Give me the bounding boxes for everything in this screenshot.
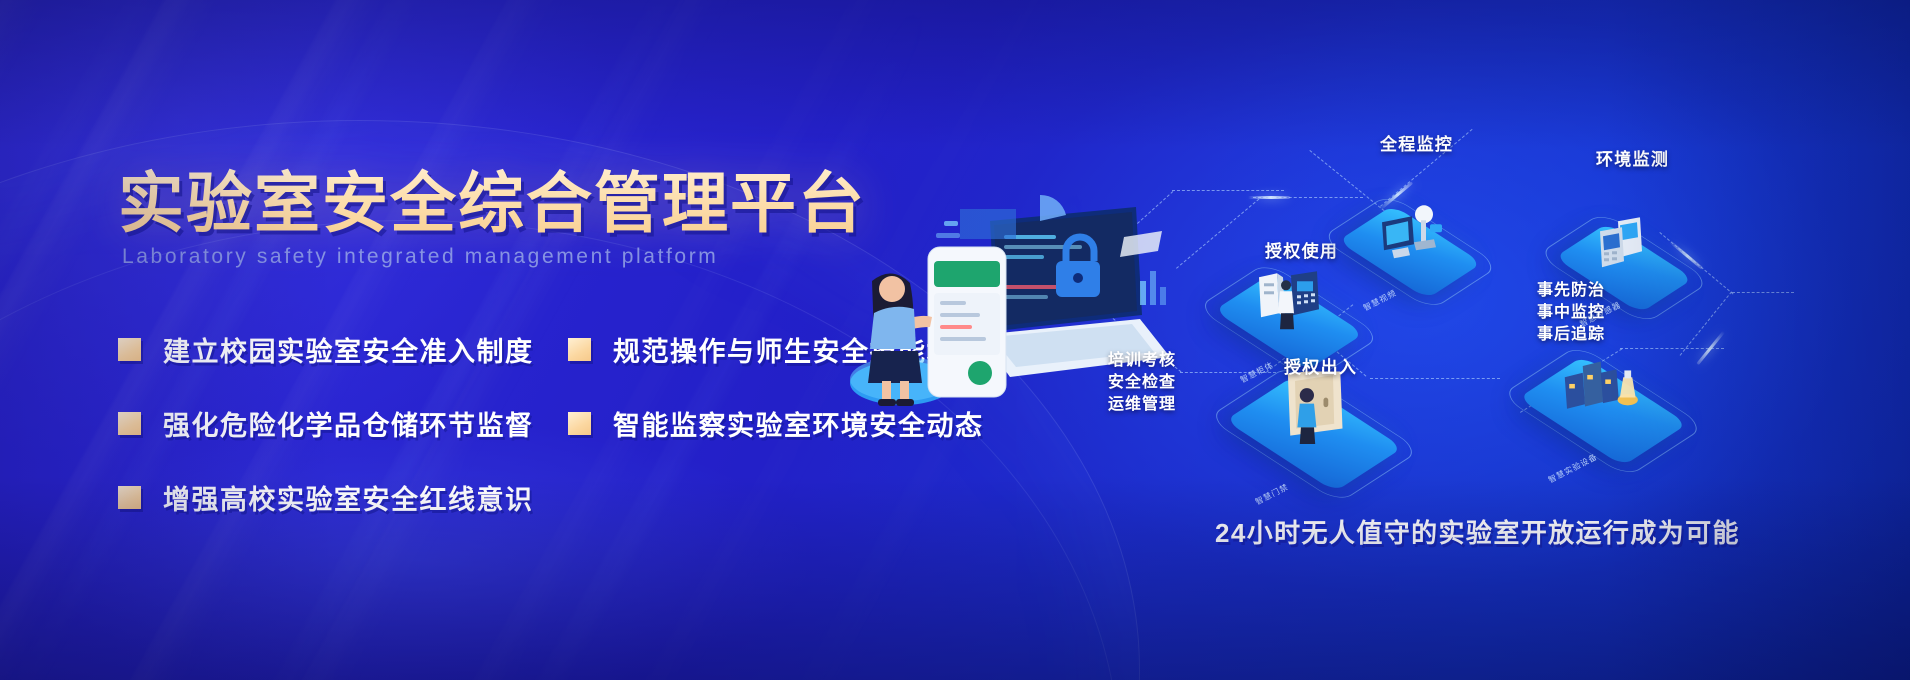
feature-label: 建立校园实验室安全准入制度 <box>163 330 534 369</box>
banner-root: 实验室安全综合管理平台 Laboratory safety integrated… <box>0 0 1910 680</box>
node-label-authorized-access: 授权出入 <box>1284 356 1357 379</box>
connector-line <box>1253 197 1363 198</box>
square-bullet-icon <box>118 412 141 435</box>
diagram-tagline: 24小时无人值守的实验室开放运行成为可能 <box>1215 513 1740 550</box>
node-label-line: 事中监控 <box>1537 302 1605 324</box>
connector-line <box>1680 291 1732 355</box>
node-label-line: 事先防治 <box>1537 280 1605 302</box>
node-label-line: 运维管理 <box>1108 394 1176 416</box>
node-label-training: 培训考核 安全检查 运维管理 <box>1108 350 1176 416</box>
smart-cabinet-icon <box>1247 270 1331 334</box>
node-label-prevention-tracking: 事先防治 事中监控 事后追踪 <box>1537 280 1605 346</box>
connector-line <box>1620 348 1724 349</box>
feature-label: 强化危险化学品仓储环节监督 <box>163 404 534 443</box>
connector-spark <box>1696 331 1725 366</box>
page-title: 实验室安全综合管理平台 <box>118 150 866 246</box>
smart-door-icon <box>1264 372 1364 448</box>
camera-monitor-icon <box>1368 200 1452 264</box>
connector-line <box>1176 199 1259 269</box>
connector-line <box>1732 292 1794 293</box>
feature-item-2: 强化危险化学品仓储环节监督 <box>118 404 534 443</box>
feature-item-1: 建立校园实验室安全准入制度 <box>118 330 534 369</box>
feature-label: 增强高校实验室安全红线意识 <box>163 478 534 517</box>
connector-spark <box>1248 196 1290 199</box>
page-subtitle: Laboratory safety integrated management … <box>122 245 718 269</box>
sensor-device-icon <box>1582 217 1666 281</box>
connector-line <box>1172 190 1284 191</box>
tile-caption: 智慧实验设备 <box>1546 451 1599 485</box>
connector-line <box>1370 378 1500 379</box>
node-label-full-monitoring: 全程监控 <box>1380 133 1453 156</box>
node-label-environment-monitoring: 环境监测 <box>1596 148 1669 171</box>
node-label-line: 安全检查 <box>1108 372 1176 394</box>
node-tile-authorized-access[interactable]: 智慧门禁 <box>1250 370 1378 498</box>
left-content-pane: 实验室安全综合管理平台 Laboratory safety integrated… <box>0 0 980 680</box>
architecture-diagram: 培训考核 安全检查 运维管理 <box>980 0 1910 680</box>
square-bullet-icon <box>568 338 591 361</box>
tile-caption: 智慧视频 <box>1361 287 1398 313</box>
square-bullet-icon <box>568 412 591 435</box>
node-tile-prevention-tracking[interactable]: 智慧实验设备 <box>1542 350 1664 472</box>
node-label-authorized-use: 授权使用 <box>1265 240 1338 263</box>
tile-caption: 智慧门禁 <box>1253 481 1290 507</box>
node-label-line: 培训考核 <box>1108 350 1176 372</box>
square-bullet-icon <box>118 486 141 509</box>
feature-item-3: 增强高校实验室安全红线意识 <box>118 478 534 517</box>
square-bullet-icon <box>118 338 141 361</box>
node-label-line: 事后追踪 <box>1537 324 1605 346</box>
chemical-storage-icon <box>1555 352 1651 424</box>
node-tile-full-monitoring[interactable]: 智慧视频 <box>1358 200 1462 304</box>
